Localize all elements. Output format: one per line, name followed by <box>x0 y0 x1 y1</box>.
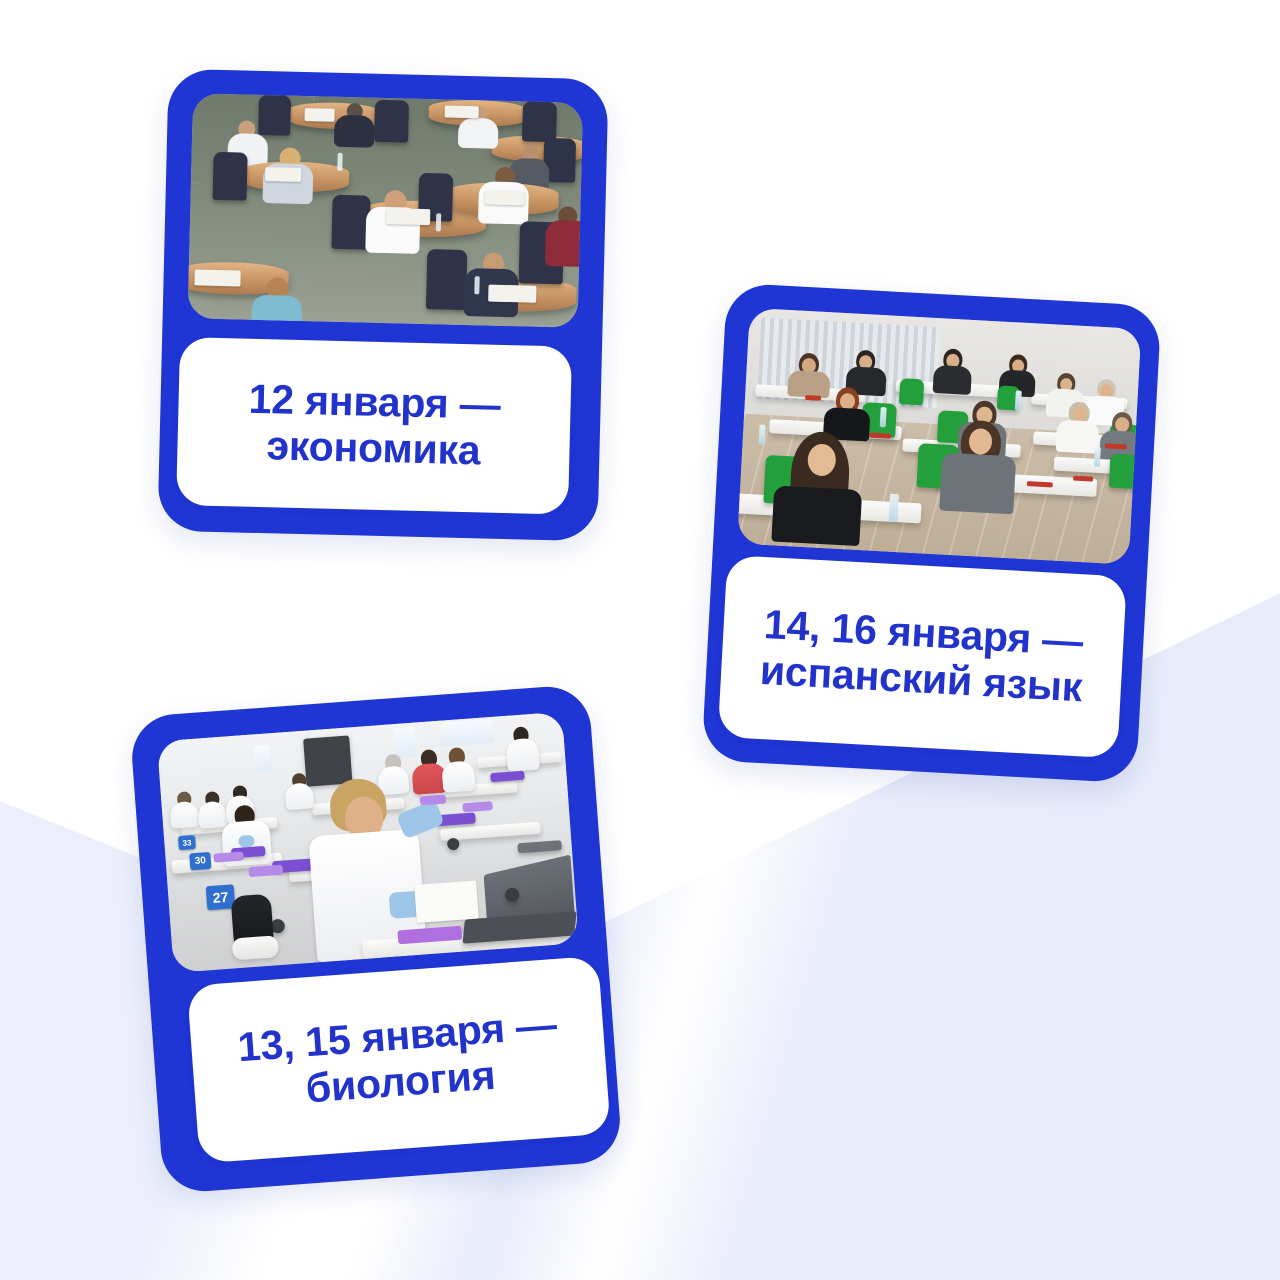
lab-placard-33: 33 <box>178 835 196 850</box>
card-label-line1: 12 января — <box>248 377 501 429</box>
card-label-line2: экономика <box>247 423 500 475</box>
card-label-spanish: 14, 16 января — испанский язык <box>718 555 1127 758</box>
exam-hall-photo <box>188 93 583 327</box>
card-biology[interactable]: 33 30 27 <box>129 684 623 1194</box>
biology-lab-photo: 33 30 27 <box>157 712 579 973</box>
lab-placard-label: 30 <box>194 855 206 867</box>
card-label-economics: 12 января — экономика <box>176 337 572 515</box>
lab-placard-label: 27 <box>212 889 229 906</box>
lab-placard-30: 30 <box>189 852 211 870</box>
card-label-biology: 13, 15 января — биология <box>187 956 611 1164</box>
card-spanish[interactable]: 14, 16 января — испанский язык <box>701 283 1161 784</box>
lab-placard-label: 33 <box>182 838 192 848</box>
card-economics[interactable]: 12 января — экономика <box>157 69 608 542</box>
classroom-photo <box>737 308 1141 565</box>
poster-canvas: 12 января — экономика <box>0 0 1280 1280</box>
